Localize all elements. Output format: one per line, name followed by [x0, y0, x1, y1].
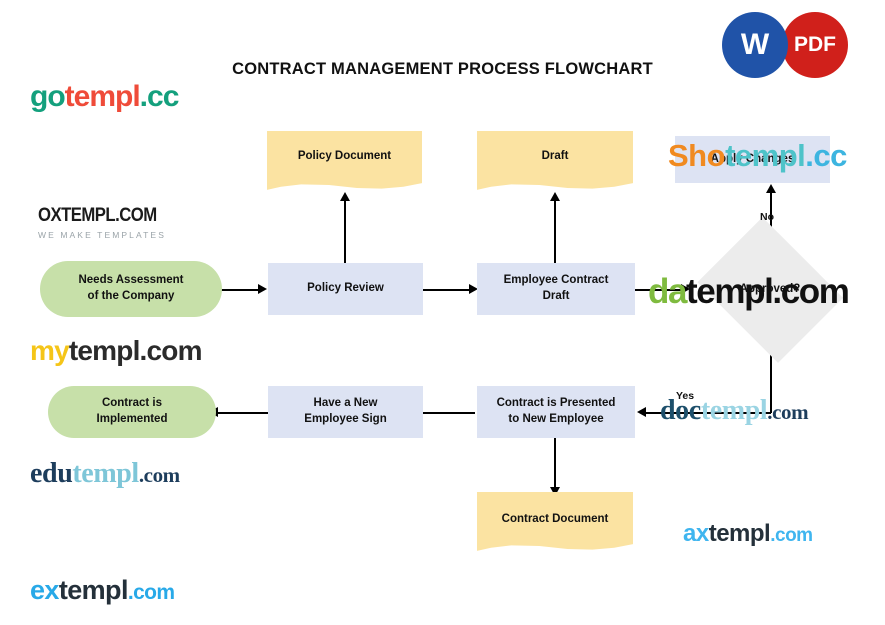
watermark-shotempl-part3: .cc [805, 138, 847, 173]
node-needs-assessment[interactable]: Needs Assessment of the Company [40, 261, 222, 317]
arrowhead-decision-to-presented [637, 407, 646, 417]
watermark-edutempl-part3: .com [139, 463, 180, 487]
node-policy-review[interactable]: Policy Review [268, 263, 423, 315]
watermark-oxtempl-tagline: WE MAKE TEMPLATES [38, 230, 173, 240]
watermark-datempl-part2: templ.com [686, 272, 848, 311]
arrowhead-draftbox-to-draft [550, 192, 560, 201]
node-contract-document-label: Contract Document [502, 512, 609, 528]
connector-policy-to-draftbox [422, 289, 470, 291]
node-draft[interactable]: Draft [477, 131, 633, 193]
watermark-doctempl: doctempl.com [660, 395, 808, 427]
watermark-gotempl-part2: templ [65, 80, 140, 113]
edge-label-no: No [760, 211, 774, 223]
watermark-edutempl: edutempl.com [30, 458, 180, 490]
watermark-mytempl-part1: my [30, 335, 69, 366]
watermark-extempl-part2: templ [59, 575, 128, 605]
node-employee-contract-draft[interactable]: Employee Contract Draft [477, 263, 635, 315]
watermark-shotempl-part2: templ [725, 138, 805, 173]
arrowhead-decision-to-applychanges [766, 184, 776, 193]
watermark-axtempl: axtempl.com [683, 520, 813, 548]
node-employee-contract-draft-label: Employee Contract Draft [504, 273, 609, 305]
watermark-extempl-part3: .com [128, 581, 175, 604]
watermark-axtempl-part3: .com [770, 525, 812, 546]
arrowhead-policy-to-policydoc [340, 192, 350, 201]
connector-draftbox-to-draft [554, 198, 556, 263]
watermark-shotempl-part1: Sho [668, 138, 725, 173]
connector-presented-to-contractdoc [554, 438, 556, 488]
connector-presented-to-sign [420, 412, 475, 414]
watermark-extempl: extempl.com [30, 575, 174, 606]
watermark-datempl: datempl.com [648, 272, 848, 312]
watermark-extempl-part1: ex [30, 575, 59, 605]
connector-needs-to-policy [217, 289, 259, 291]
watermark-edutempl-part1: edu [30, 458, 72, 489]
watermark-edutempl-part2: templ [72, 458, 138, 489]
node-contract-implemented-label: Contract is Implemented [97, 396, 168, 428]
connector-policy-to-policydoc [344, 198, 346, 263]
word-format-badge[interactable]: W [722, 12, 788, 78]
watermark-oxtempl-main: OXTEMPL.COM [38, 205, 157, 227]
node-draft-label: Draft [542, 149, 569, 165]
node-contract-presented[interactable]: Contract is Presented to New Employee [477, 386, 635, 438]
watermark-axtempl-part1: ax [683, 520, 709, 547]
node-policy-document[interactable]: Policy Document [267, 131, 422, 193]
watermark-doctempl-part2: templ [701, 395, 767, 426]
watermark-datempl-part1: da [648, 272, 686, 311]
connector-sign-to-implemented [217, 412, 272, 414]
pdf-format-badge[interactable]: PDF [782, 12, 848, 78]
node-policy-review-label: Policy Review [307, 281, 384, 297]
node-have-employee-sign[interactable]: Have a New Employee Sign [268, 386, 423, 438]
watermark-gotempl-part3: .cc [140, 80, 179, 113]
watermark-mytempl-part2: templ.com [69, 335, 202, 366]
pdf-badge-label: PDF [794, 33, 836, 57]
arrowhead-needs-to-policy [258, 284, 267, 294]
watermark-gotempl: gotempl.cc [30, 80, 178, 114]
watermark-doctempl-part3: .com [767, 400, 808, 424]
node-have-employee-sign-label: Have a New Employee Sign [304, 396, 386, 428]
node-contract-implemented[interactable]: Contract is Implemented [48, 386, 216, 438]
watermark-axtempl-part2: templ [709, 520, 771, 547]
node-contract-document[interactable]: Contract Document [477, 492, 633, 554]
node-needs-assessment-label: Needs Assessment of the Company [78, 273, 183, 305]
watermark-gotempl-part1: go [30, 80, 65, 113]
watermark-doctempl-part1: doc [660, 395, 701, 426]
watermark-mytempl: mytempl.com [30, 335, 202, 367]
node-policy-document-label: Policy Document [298, 149, 391, 165]
watermark-oxtempl: OXTEMPL.COM WE MAKE TEMPLATES [38, 205, 173, 240]
word-badge-label: W [741, 28, 769, 62]
watermark-shotempl: Shotempl.cc [668, 138, 847, 174]
flowchart-canvas: CONTRACT MANAGEMENT PROCESS FLOWCHART PD… [0, 0, 885, 625]
node-contract-presented-label: Contract is Presented to New Employee [497, 396, 616, 428]
